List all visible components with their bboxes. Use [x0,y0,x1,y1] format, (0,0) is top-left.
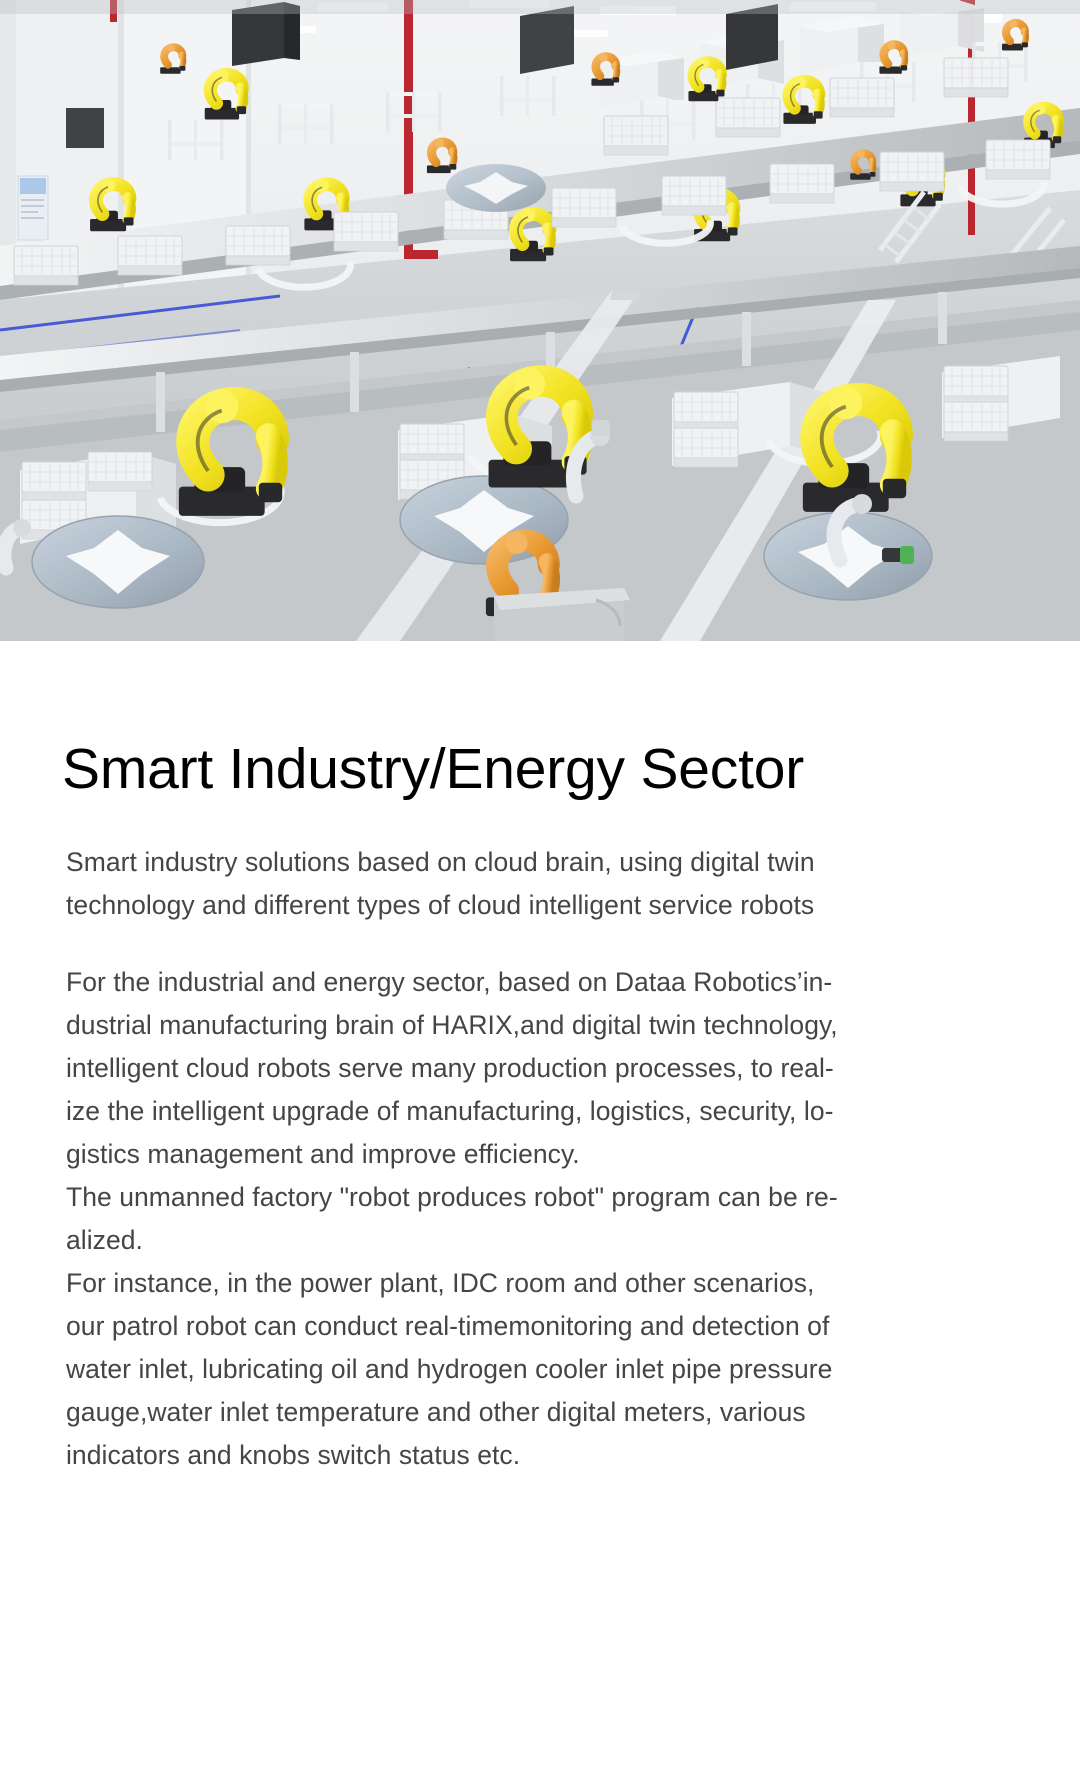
body-copy: Smart industry solutions based on cloud … [66,841,896,1477]
detail-line: dustrial manufacturing brain of HARIX,an… [66,1004,896,1047]
detail-line: gistics management and improve efficienc… [66,1133,896,1176]
page-title: Smart Industry/Energy Sector [62,739,1042,801]
detail-line: ize the intelligent upgrade of manufactu… [66,1090,896,1133]
detail-line: indicators and knobs switch status etc. [66,1434,896,1477]
detail-line: For the industrial and energy sector, ba… [66,961,896,1004]
lead-paragraph: Smart industry solutions based on cloud … [66,841,896,927]
factory-scene-illustration [0,0,1080,641]
hero-factory-image [0,0,1080,641]
detail-line: The unmanned factory "robot produces rob… [66,1176,896,1219]
detail-line: alized. [66,1219,896,1262]
detail-line: water inlet, lubricating oil and hydroge… [66,1348,896,1391]
detail-line: gauge,water inlet temperature and other … [66,1391,896,1434]
detail-paragraph: For the industrial and energy sector, ba… [66,961,896,1477]
detail-line: our patrol robot can conduct real-timemo… [66,1305,896,1348]
detail-line: intelligent cloud robots serve many prod… [66,1047,896,1090]
detail-line: For instance, in the power plant, IDC ro… [66,1262,896,1305]
page-root: Smart Industry/Energy Sector Smart indus… [0,0,1080,1785]
